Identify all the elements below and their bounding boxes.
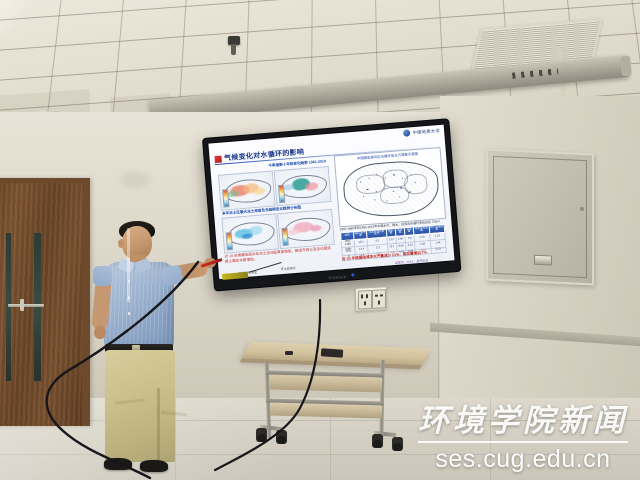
door-glass-strip — [6, 233, 11, 381]
door-lock-icon[interactable] — [20, 299, 24, 311]
hand-left — [94, 326, 106, 339]
china-map: 中国典型季风区水循环及水汽通量示意图 — [334, 147, 446, 227]
title-accent-icon — [214, 155, 222, 163]
housing-vent-dots-icon — [512, 68, 558, 78]
table-cell: 0.25 — [431, 247, 447, 253]
table-caster-icon — [276, 430, 287, 444]
panel-latch-icon[interactable] — [534, 255, 552, 266]
ceiling-grid-line — [311, 0, 313, 128]
sleeve-right — [161, 264, 184, 286]
tv-brand-label: Hisense — [328, 274, 346, 280]
map-thumb — [218, 171, 276, 211]
shirt-placket — [127, 228, 130, 302]
map-thumb — [221, 213, 279, 253]
tv-sticker — [222, 272, 248, 280]
watermark-url: ses.cug.edu.cn — [418, 445, 628, 474]
watermark-divider — [418, 441, 628, 443]
watermark: 环境学院新闻 ses.cug.edu.cn — [418, 395, 628, 474]
presenter — [86, 222, 210, 472]
sleeve-left — [93, 266, 112, 286]
ceiling-grid-line — [374, 0, 379, 123]
table-fold-panel — [270, 375, 382, 393]
wooden-double-door[interactable] — [0, 183, 82, 426]
slide-org-name: 中国地质大学 — [412, 127, 440, 135]
slide-org-logo: 中国地质大学 — [403, 127, 440, 137]
table-caster-icon — [256, 428, 267, 442]
wall-access-panel[interactable] — [486, 149, 594, 286]
panel-screw-icon — [580, 207, 584, 211]
housing-end-cap — [620, 56, 632, 77]
china-map-title: 中国典型季风区水循环及水汽通量示意图 — [357, 151, 418, 161]
door-handle[interactable] — [24, 304, 44, 307]
map-thumb — [274, 166, 332, 206]
shoe-right — [140, 460, 168, 472]
socket-right[interactable] — [372, 289, 386, 309]
socket-left[interactable] — [358, 290, 372, 310]
map-thumb — [277, 209, 335, 249]
shoe-left — [104, 458, 132, 470]
table-caster-icon — [372, 434, 383, 448]
wall-mounted-tv[interactable]: 中国地质大学 气候变化对水循环的影响 干旱指数十年际变化趋势 1961-2010 — [203, 119, 460, 290]
annotation-label-2: 冻土监测点 — [281, 266, 296, 271]
wall-mark — [120, 172, 150, 188]
watermark-title: 环境学院新闻 — [418, 395, 628, 440]
tv-power-led-icon — [351, 273, 354, 276]
remote-control[interactable] — [285, 351, 293, 355]
ceiling-sensor-icon — [228, 36, 240, 45]
presentation-slide: 中国地质大学 气候变化对水循环的影响 干旱指数十年际变化趋势 1961-2010 — [208, 125, 454, 279]
trousers — [105, 350, 175, 462]
power-adapter[interactable] — [321, 348, 344, 358]
ear — [118, 239, 124, 248]
table-caster-icon — [392, 437, 403, 451]
university-logo-icon — [403, 129, 411, 137]
wall-power-outlet[interactable] — [355, 286, 387, 312]
ceiling-light-glow — [0, 0, 40, 61]
ceiling-grid-line — [0, 0, 640, 25]
door-glass-strip — [34, 233, 41, 381]
ceiling-grid-line — [622, 0, 640, 102]
door-frame — [0, 178, 90, 426]
classroom-photo: 中国地质大学 气候变化对水循环的影响 干旱指数十年际变化趋势 1961-2010 — [0, 0, 640, 480]
